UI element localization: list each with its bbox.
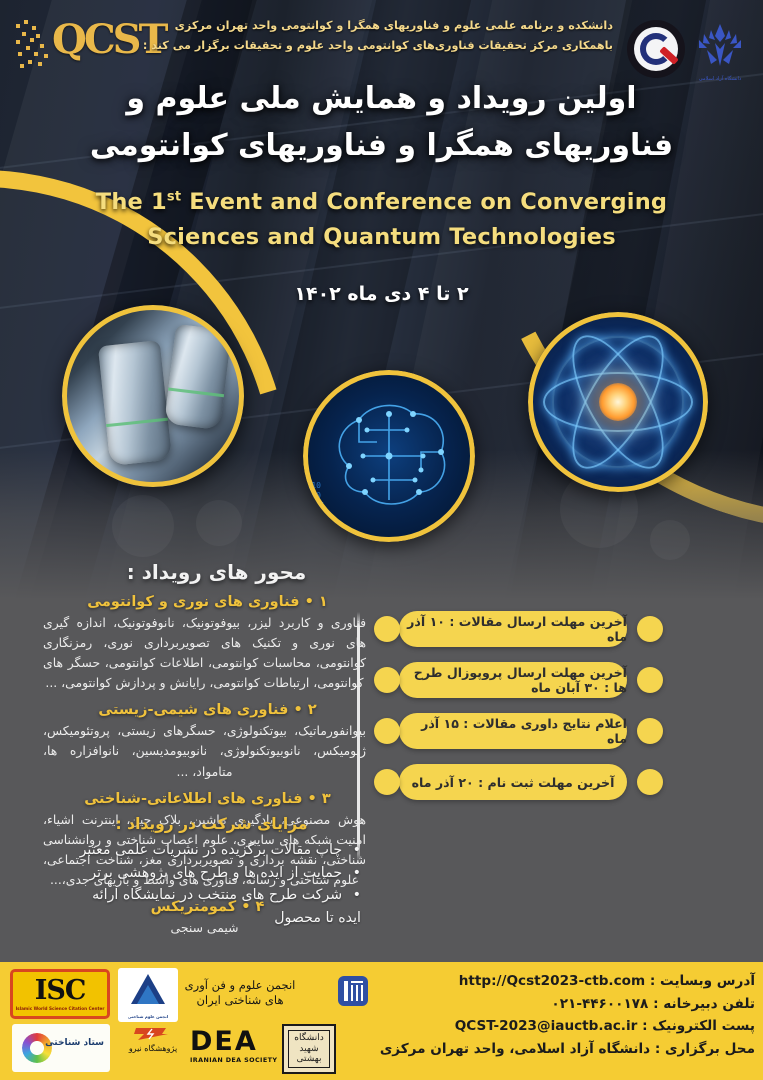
contact-info: آدرس وبسایت : http://Qcst2023-ctb.com تل… <box>323 970 755 1060</box>
partner-logos-top: دانشگاه آزاد اسلامی <box>623 6 755 86</box>
benefit-text: شرکت طرح های منتخب در نمایشگاه ارائه <box>92 887 342 903</box>
deadline-row: اعلام نتایج داوری مقالات : ۱۵ آذر ماه <box>0 710 763 754</box>
circuit-brain-icon: 01100100 10011001 <box>303 370 475 542</box>
benefit-item: • شرکت طرح های منتخب در نمایشگاه ارائه <box>30 884 753 907</box>
bullet-icon: • <box>353 865 361 881</box>
microscope-lens-icon <box>98 340 172 466</box>
phone-label: تلفن دبیرخانه : <box>653 996 755 1012</box>
benefit-item: • حمایت از ایده ها و طرح های پژوهشی برتر <box>30 862 753 885</box>
english-title-line-1: The 1st Event and Conference on Convergi… <box>0 185 763 220</box>
cognitive-council-caption: ستاد شناختی <box>45 1038 104 1048</box>
azad-logo-caption: دانشگاه آزاد اسلامی <box>691 76 749 82</box>
host-line-1: دانشکده و برنامه علمی علوم و فناوریهای ه… <box>133 16 613 36</box>
bullet-dot-right <box>637 718 663 744</box>
isc-logo-caption: Islamic World Science Citation Center <box>16 1006 105 1011</box>
lightning-icon <box>132 1026 172 1042</box>
topics-heading: محور های رویداد : <box>35 560 380 584</box>
azad-university-logo: دانشگاه آزاد اسلامی <box>691 16 749 82</box>
cognitive-society-name: انجمن علوم و فن آوری های شناختی ایران <box>180 978 300 1008</box>
deadline-row: آخرین مهلت ارسال مقالات : ۱۰ آذر ماه <box>0 608 763 652</box>
atom-nucleus-icon <box>599 383 637 421</box>
email-label: پست الکترونیک : <box>642 1018 755 1034</box>
svg-text:0110: 0110 <box>303 481 321 490</box>
deadline-pill: اعلام نتایج داوری مقالات : ۱۵ آذر ماه <box>399 713 627 749</box>
english-title-line-2: Sciences and Quantum Technologies <box>0 220 763 255</box>
english-title-rest: Event and Conference on Converging <box>181 189 667 215</box>
isc-logo-text: ISC <box>35 977 86 1004</box>
dea-logo-caption: IRANIAN DEA SOCIETY <box>190 1056 286 1064</box>
benefit-item: • چاپ مقالات برگزیده در نشریات علمی معتب… <box>30 839 753 862</box>
email-value[interactable]: QCST-2023@iauctb.ac.ir <box>455 1015 638 1038</box>
pixel-dots-icon <box>14 18 54 74</box>
phone-row: تلفن دبیرخانه : ۰۲۱-۴۴۶۰۰۱۷۸ <box>323 993 755 1016</box>
phone-value: ۰۲۱-۴۴۶۰۰۱۷۸ <box>551 993 648 1016</box>
bullet-dot-right <box>637 616 663 642</box>
email-row: پست الکترونیک : QCST-2023@iauctb.ac.ir <box>323 1015 755 1038</box>
bullet-icon: • <box>353 842 361 858</box>
quantum-center-logo <box>627 20 685 78</box>
benefit-continuation: ایده تا محصول <box>30 907 753 930</box>
atom-image-circle <box>528 312 708 492</box>
benefits-section: مزایای شرکت در رویداد : • چاپ مقالات برگ… <box>0 815 763 930</box>
persian-title: اولین رویداد و همایش ملی علوم و فناوریها… <box>0 76 763 169</box>
venue-row: محل برگزاری : دانشگاه آزاد اسلامی، واحد … <box>323 1038 755 1061</box>
microscope-image-circle <box>62 305 244 487</box>
deadline-pill: آخرین مهلت ارسال مقالات : ۱۰ آذر ماه <box>399 611 627 647</box>
bullet-dot-left <box>374 718 400 744</box>
website-value[interactable]: http://Qcst2023-ctb.com <box>459 970 645 993</box>
benefit-text: چاپ مقالات برگزیده در نشریات علمی معتبر <box>80 842 343 858</box>
azad-wings-icon <box>691 16 749 74</box>
conference-poster: QCST دانشکده و برنامه علمی علوم و فناوری… <box>0 0 763 1080</box>
english-title: The 1st Event and Conference on Convergi… <box>0 185 763 255</box>
bullet-icon: • <box>353 887 361 903</box>
svg-text:1001: 1001 <box>303 511 319 520</box>
website-label: آدرس وبسایت : <box>650 973 755 989</box>
deadline-pill: آخرین مهلت ارسال پروپوزال طرح ها : ۳۰ آب… <box>399 662 627 698</box>
event-date: ۲ تا ۴ دی ماه ۱۴۰۲ <box>0 283 763 305</box>
deadline-row: آخرین مهلت ثبت نام : ۲۰ آذر ماه <box>0 761 763 805</box>
cognitive-society-logo: انجمن علوم شناختی <box>118 968 178 1022</box>
poster-header: QCST دانشکده و برنامه علمی علوم و فناوری… <box>0 0 763 86</box>
english-title-prefix: The 1 <box>96 189 167 215</box>
dea-society-logo: DEA IRANIAN DEA SOCIETY <box>190 1028 286 1072</box>
bullet-dot-right <box>637 667 663 693</box>
sponsor-logos: ISC Islamic World Science Citation Cente… <box>4 966 334 1076</box>
triangle-inner-icon <box>137 985 159 1004</box>
isc-logo: ISC Islamic World Science Citation Cente… <box>10 969 110 1019</box>
deadlines-section: آخرین مهلت ارسال مقالات : ۱۰ آذر ماه آخر… <box>0 608 763 812</box>
benefit-text: حمایت از ایده ها و طرح های پژوهشی برتر <box>89 865 342 881</box>
benefits-heading: مزایای شرکت در رویداد : <box>30 815 753 833</box>
dea-logo-text: DEA <box>190 1028 286 1055</box>
host-organizations: دانشکده و برنامه علمی علوم و فناوریهای ه… <box>133 16 613 55</box>
venue-label: محل برگزاری : <box>655 1041 755 1057</box>
website-row: آدرس وبسایت : http://Qcst2023-ctb.com <box>323 970 755 993</box>
bullet-dot-left <box>374 616 400 642</box>
ordinal-suffix: st <box>167 190 181 205</box>
niroo-research-logo: پژوهشگاه نیرو <box>122 1026 184 1072</box>
svg-text:1001: 1001 <box>306 501 325 510</box>
society-logo-caption: انجمن علوم شناختی <box>118 1014 178 1019</box>
svg-text:0100: 0100 <box>303 491 321 500</box>
host-line-2: باهمکاری مرکز تحقیقات فناوری‌های کوانتوم… <box>133 36 613 56</box>
bullet-dot-right <box>637 769 663 795</box>
venue-value: دانشگاه آزاد اسلامی، واحد تهران مرکزی <box>380 1041 650 1057</box>
bullet-dot-left <box>374 667 400 693</box>
bullet-dot-left <box>374 769 400 795</box>
niroo-caption: پژوهشگاه نیرو <box>122 1044 184 1053</box>
circuit-brain-image-circle: 01100100 10011001 <box>303 370 475 542</box>
deadline-pill: آخرین مهلت ثبت نام : ۲۰ آذر ماه <box>399 764 627 800</box>
cognitive-council-logo: ستاد شناختی <box>12 1024 110 1072</box>
persian-title-line-2: فناوریهای همگرا و فناوریهای کوانتومی <box>0 123 763 170</box>
poster-footer: ISC Islamic World Science Citation Cente… <box>0 962 763 1080</box>
deadline-row: آخرین مهلت ارسال پروپوزال طرح ها : ۳۰ آب… <box>0 659 763 703</box>
